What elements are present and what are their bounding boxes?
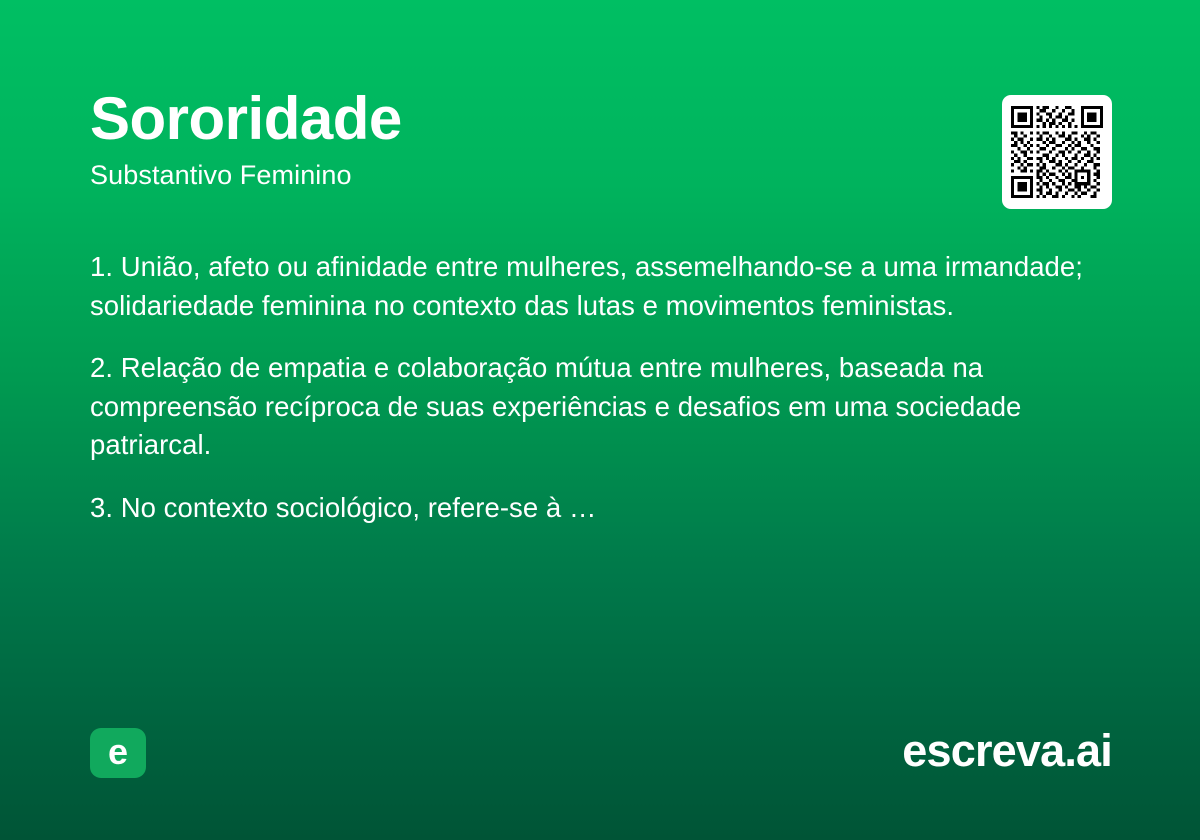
qr-code-panel[interactable] [1002, 95, 1112, 209]
brand-wordmark: escreva.ai [902, 724, 1112, 778]
qr-code-icon [1011, 104, 1103, 200]
definition-card: Sororidade Substantivo Feminino [0, 0, 1200, 840]
definition-item: 3. No contexto sociológico, refere-se à … [90, 489, 1090, 528]
card-footer: e escreva.ai [0, 726, 1200, 782]
card-header: Sororidade Substantivo Feminino [90, 88, 950, 191]
escreva-logo-icon: e [90, 728, 146, 778]
definition-list: 1. União, afeto ou afinidade entre mulhe… [90, 248, 1090, 527]
logo-letter: e [108, 734, 128, 770]
word-class-subtitle: Substantivo Feminino [90, 161, 950, 191]
definition-item: 1. União, afeto ou afinidade entre mulhe… [90, 248, 1090, 325]
definition-item: 2. Relação de empatia e colaboração mútu… [90, 349, 1090, 465]
page-title: Sororidade [90, 88, 950, 149]
